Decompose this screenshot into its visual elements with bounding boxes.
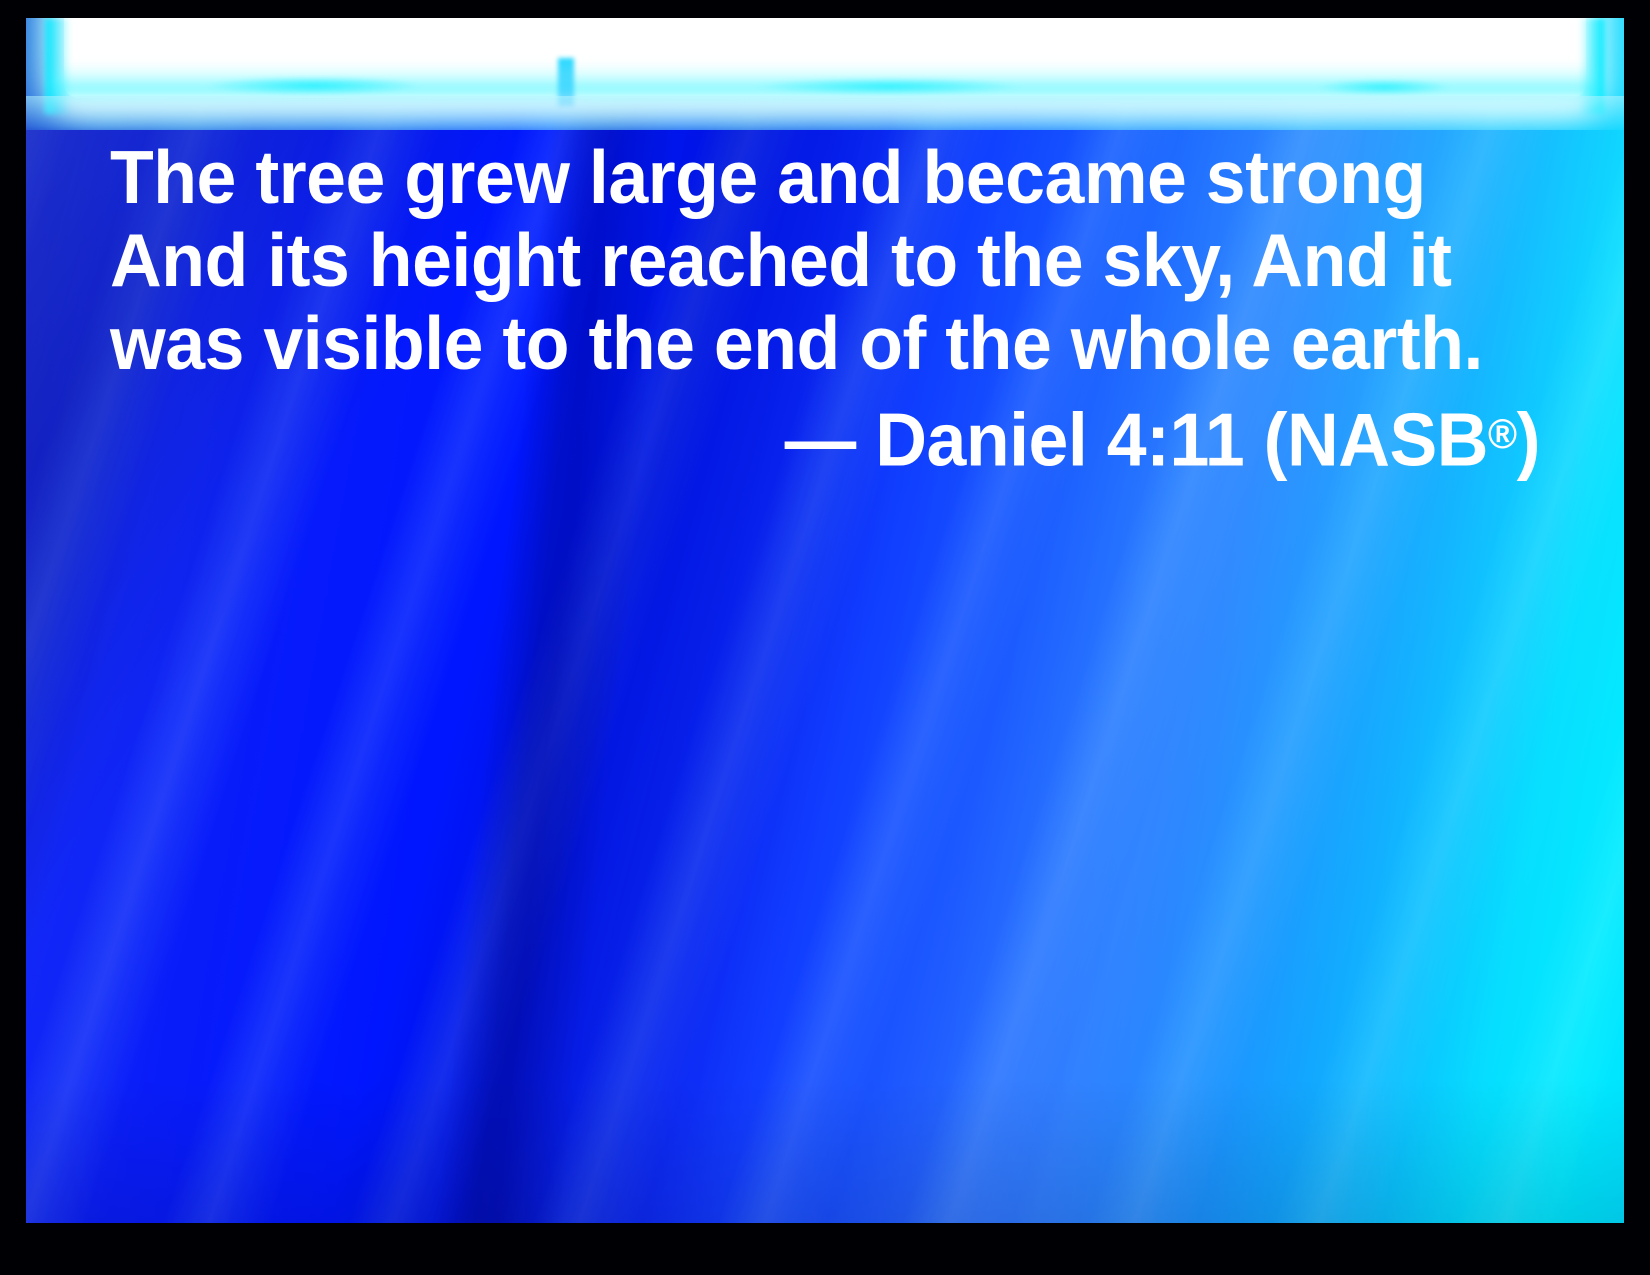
attribution-suffix: ) — [1517, 397, 1540, 481]
slide-black-frame: The tree grew large and became strong An… — [0, 0, 1650, 1275]
verse-slide: The tree grew large and became strong An… — [0, 0, 1650, 1275]
verse-text-block: The tree grew large and became strong An… — [110, 136, 1540, 481]
verse-line-3: was visible to the end of the whole eart… — [110, 302, 1476, 385]
verse-line-1: The tree grew large and became strong — [110, 136, 1476, 219]
registered-trademark-icon: ® — [1488, 411, 1517, 457]
slide-panel: The tree grew large and became strong An… — [26, 18, 1624, 1223]
verse-attribution: — Daniel 4:11 (NASB®) — [174, 385, 1540, 481]
attribution-prefix: — Daniel 4:11 (NASB — [785, 397, 1488, 481]
verse-line-2: And its height reached to the sky, And i… — [110, 219, 1476, 302]
